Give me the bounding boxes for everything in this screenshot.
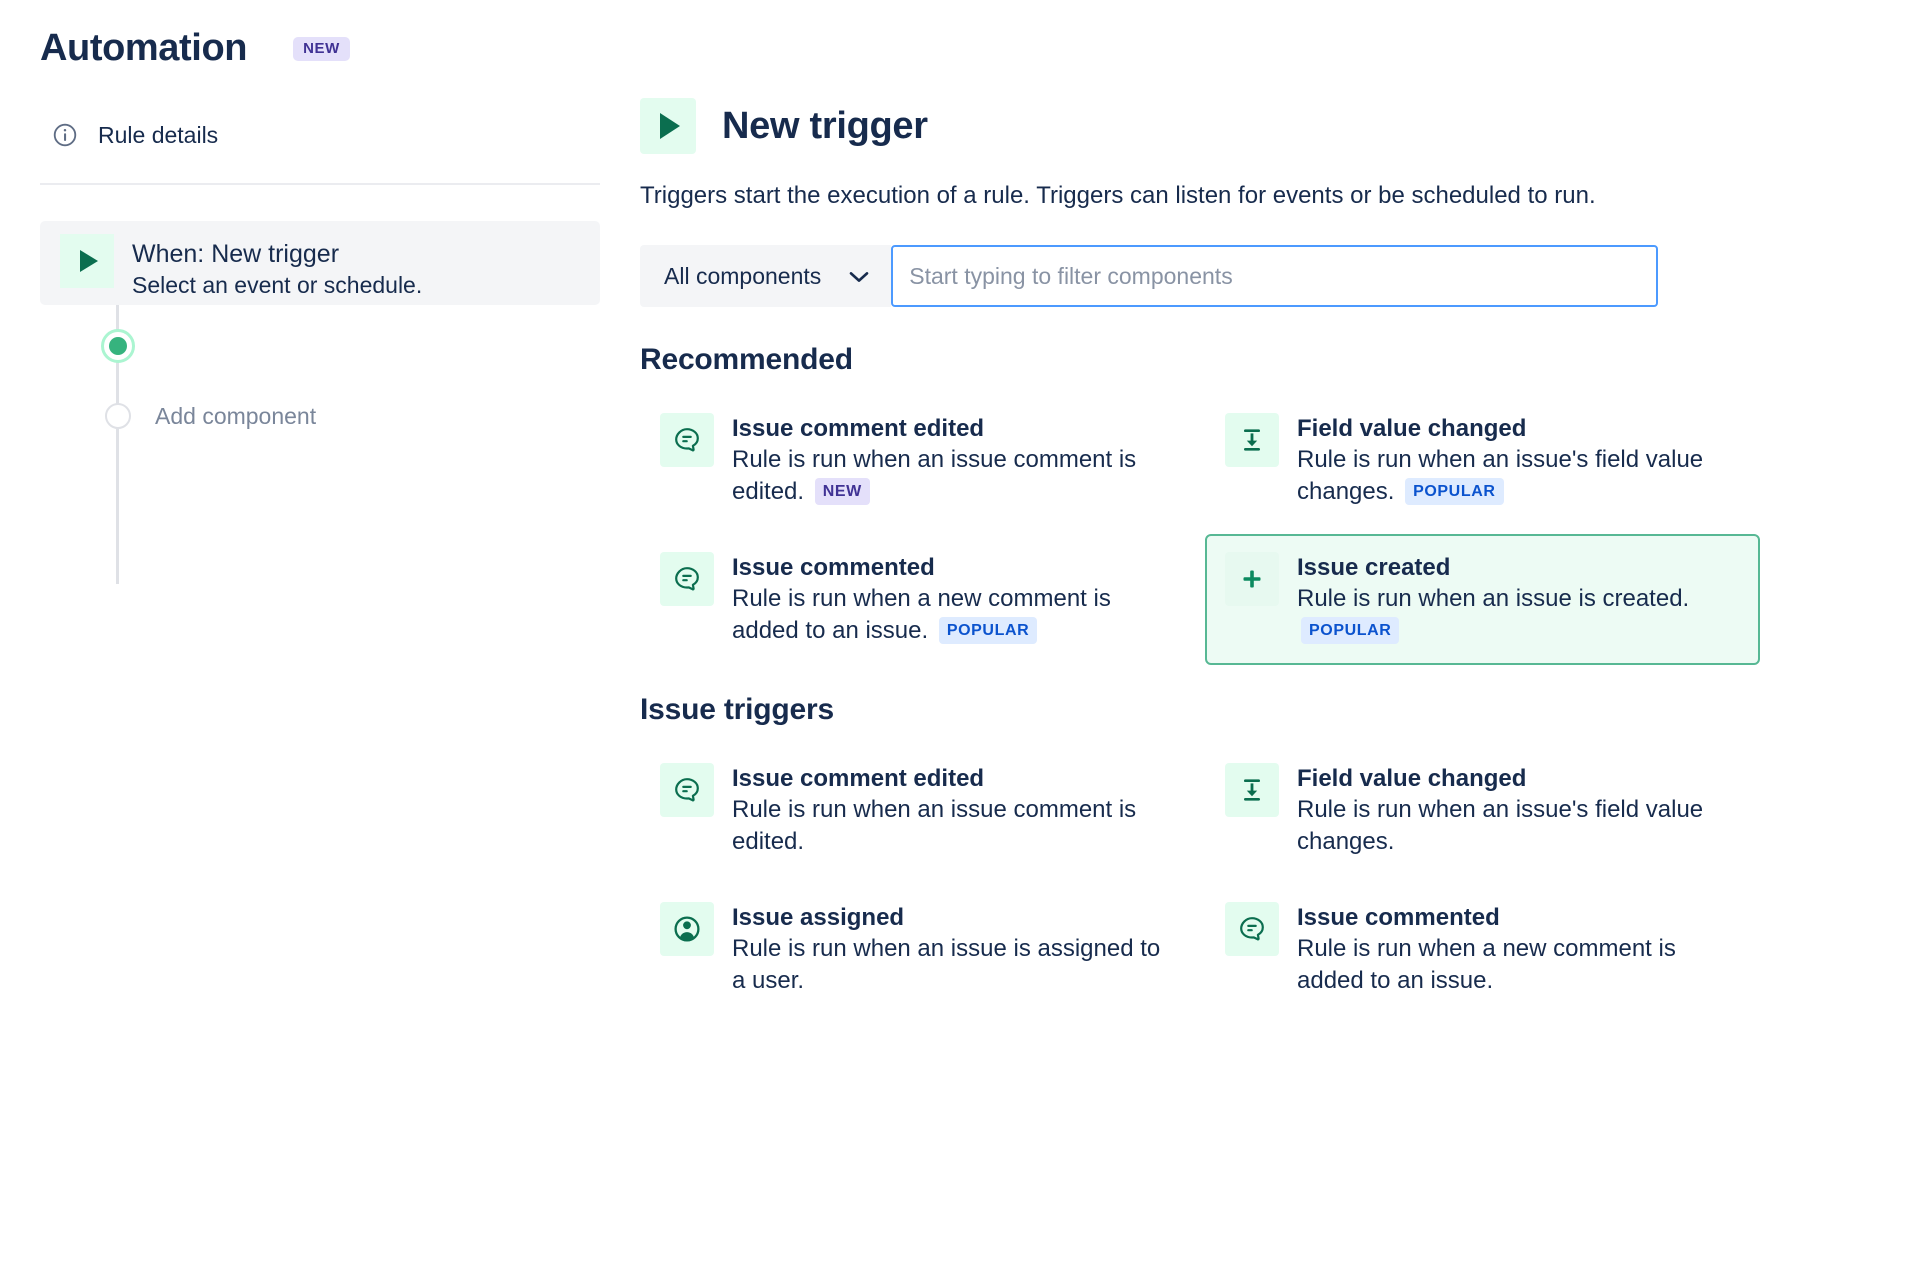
trigger-card-grid: Issue comment editedRule is run when an … bbox=[640, 395, 1878, 665]
comment-icon bbox=[1225, 902, 1279, 956]
info-icon bbox=[52, 122, 78, 148]
section-title: Recommended bbox=[640, 343, 1878, 377]
trigger-card-grid: Issue comment editedRule is run when an … bbox=[640, 745, 1878, 1015]
trigger-card-description: Rule is run when an issue is created. PO… bbox=[1297, 583, 1740, 647]
rule-builder-sidebar: Automation NEW Rule details When bbox=[0, 0, 640, 1276]
play-icon bbox=[640, 98, 696, 154]
component-type-value: All components bbox=[664, 263, 821, 290]
status-badge: POPULAR bbox=[939, 617, 1037, 643]
trigger-card-description: Rule is run when a new comment is added … bbox=[732, 583, 1175, 647]
play-icon bbox=[60, 234, 114, 288]
trigger-card-description: Rule is run when an issue comment is edi… bbox=[732, 444, 1175, 508]
trigger-card[interactable]: Issue createdRule is run when an issue i… bbox=[1205, 534, 1760, 665]
flow-node-empty bbox=[105, 403, 131, 429]
comment-icon bbox=[660, 763, 714, 817]
field-value-icon bbox=[1225, 763, 1279, 817]
sidebar-divider bbox=[40, 183, 600, 185]
trigger-card[interactable]: Field value changedRule is run when an i… bbox=[1205, 395, 1760, 526]
trigger-card-title: Field value changed bbox=[1297, 413, 1740, 444]
trigger-card-title: Issue commented bbox=[732, 552, 1175, 583]
trigger-card-title: Issue comment edited bbox=[732, 763, 1175, 794]
trigger-section: Issue triggers Issue comment editedRule … bbox=[640, 693, 1878, 1015]
trigger-card-body: Issue createdRule is run when an issue i… bbox=[1297, 552, 1740, 647]
trigger-card[interactable]: Issue assignedRule is run when an issue … bbox=[640, 884, 1195, 1015]
trigger-picker-panel: New trigger Triggers start the execution… bbox=[640, 0, 1918, 1276]
trigger-card-description-text: Rule is run when an issue comment is edi… bbox=[732, 796, 1136, 855]
trigger-card-description: Rule is run when an issue's field value … bbox=[1297, 444, 1740, 508]
flow-item-title: When: New trigger bbox=[132, 239, 422, 270]
trigger-card-body: Field value changedRule is run when an i… bbox=[1297, 763, 1740, 858]
flow-connector-line bbox=[116, 279, 119, 584]
component-filter-bar: All components bbox=[640, 245, 1658, 307]
page-title: Automation bbox=[40, 28, 247, 70]
trigger-card-body: Issue commentedRule is run when a new co… bbox=[732, 552, 1175, 647]
trigger-card-description: Rule is run when an issue's field value … bbox=[1297, 794, 1740, 858]
panel-description: Triggers start the execution of a rule. … bbox=[640, 180, 1878, 211]
trigger-card[interactable]: Issue comment editedRule is run when an … bbox=[640, 395, 1195, 526]
trigger-card-description-text: Rule is run when an issue's field value … bbox=[1297, 796, 1703, 855]
trigger-card[interactable]: Issue commentedRule is run when a new co… bbox=[1205, 884, 1760, 1015]
status-badge: NEW bbox=[815, 478, 870, 504]
comment-icon bbox=[660, 413, 714, 467]
sidebar-header: Automation NEW bbox=[40, 28, 600, 70]
trigger-card[interactable]: Field value changedRule is run when an i… bbox=[1205, 745, 1760, 876]
trigger-card-title: Issue assigned bbox=[732, 902, 1175, 933]
flow-node-active[interactable] bbox=[101, 329, 135, 363]
trigger-card-description: Rule is run when an issue is assigned to… bbox=[732, 933, 1175, 997]
automation-page: Automation NEW Rule details When bbox=[0, 0, 1918, 1276]
person-icon bbox=[660, 902, 714, 956]
trigger-card-description-text: Rule is run when a new comment is added … bbox=[1297, 935, 1676, 994]
trigger-card-title: Issue commented bbox=[1297, 902, 1740, 933]
chevron-down-icon bbox=[849, 270, 869, 282]
rule-flow: When: New trigger Select an event or sch… bbox=[40, 221, 600, 430]
trigger-card-description-text: Rule is run when an issue comment is edi… bbox=[732, 446, 1136, 505]
add-component-label: Add component bbox=[155, 403, 316, 430]
status-badge: POPULAR bbox=[1301, 617, 1399, 643]
rule-details-label: Rule details bbox=[98, 122, 218, 149]
new-badge: NEW bbox=[293, 37, 350, 61]
trigger-card-body: Field value changedRule is run when an i… bbox=[1297, 413, 1740, 508]
plus-icon bbox=[1225, 552, 1279, 606]
panel-header: New trigger bbox=[640, 98, 1878, 154]
trigger-card-title: Issue created bbox=[1297, 552, 1740, 583]
trigger-card-body: Issue comment editedRule is run when an … bbox=[732, 413, 1175, 508]
sidebar-item-rule-details[interactable]: Rule details bbox=[40, 122, 600, 149]
status-badge: POPULAR bbox=[1405, 478, 1503, 504]
comment-icon bbox=[660, 552, 714, 606]
trigger-card-body: Issue comment editedRule is run when an … bbox=[732, 763, 1175, 858]
flow-item-text: When: New trigger Select an event or sch… bbox=[132, 239, 422, 300]
trigger-sections: Recommended Issue comment editedRule is … bbox=[640, 343, 1878, 1015]
trigger-section: Recommended Issue comment editedRule is … bbox=[640, 343, 1878, 665]
trigger-card[interactable]: Issue commentedRule is run when a new co… bbox=[640, 534, 1195, 665]
trigger-card-description-text: Rule is run when an issue is assigned to… bbox=[732, 935, 1160, 994]
panel-title: New trigger bbox=[722, 105, 928, 148]
component-filter-input[interactable] bbox=[891, 245, 1658, 307]
field-value-icon bbox=[1225, 413, 1279, 467]
trigger-card-description: Rule is run when an issue comment is edi… bbox=[732, 794, 1175, 858]
component-type-dropdown[interactable]: All components bbox=[640, 245, 891, 307]
trigger-card-description-text: Rule is run when a new comment is added … bbox=[732, 585, 1111, 644]
trigger-card-title: Field value changed bbox=[1297, 763, 1740, 794]
flow-item-add-component[interactable]: Add component bbox=[40, 403, 600, 430]
trigger-card-body: Issue assignedRule is run when an issue … bbox=[732, 902, 1175, 997]
trigger-card-title: Issue comment edited bbox=[732, 413, 1175, 444]
section-title: Issue triggers bbox=[640, 693, 1878, 727]
trigger-card-description-text: Rule is run when an issue is created. bbox=[1297, 585, 1689, 612]
trigger-card[interactable]: Issue comment editedRule is run when an … bbox=[640, 745, 1195, 876]
trigger-card-description: Rule is run when a new comment is added … bbox=[1297, 933, 1740, 997]
flow-item-when-trigger[interactable]: When: New trigger Select an event or sch… bbox=[40, 221, 600, 305]
trigger-card-body: Issue commentedRule is run when a new co… bbox=[1297, 902, 1740, 997]
flow-item-subtitle: Select an event or schedule. bbox=[132, 271, 422, 300]
